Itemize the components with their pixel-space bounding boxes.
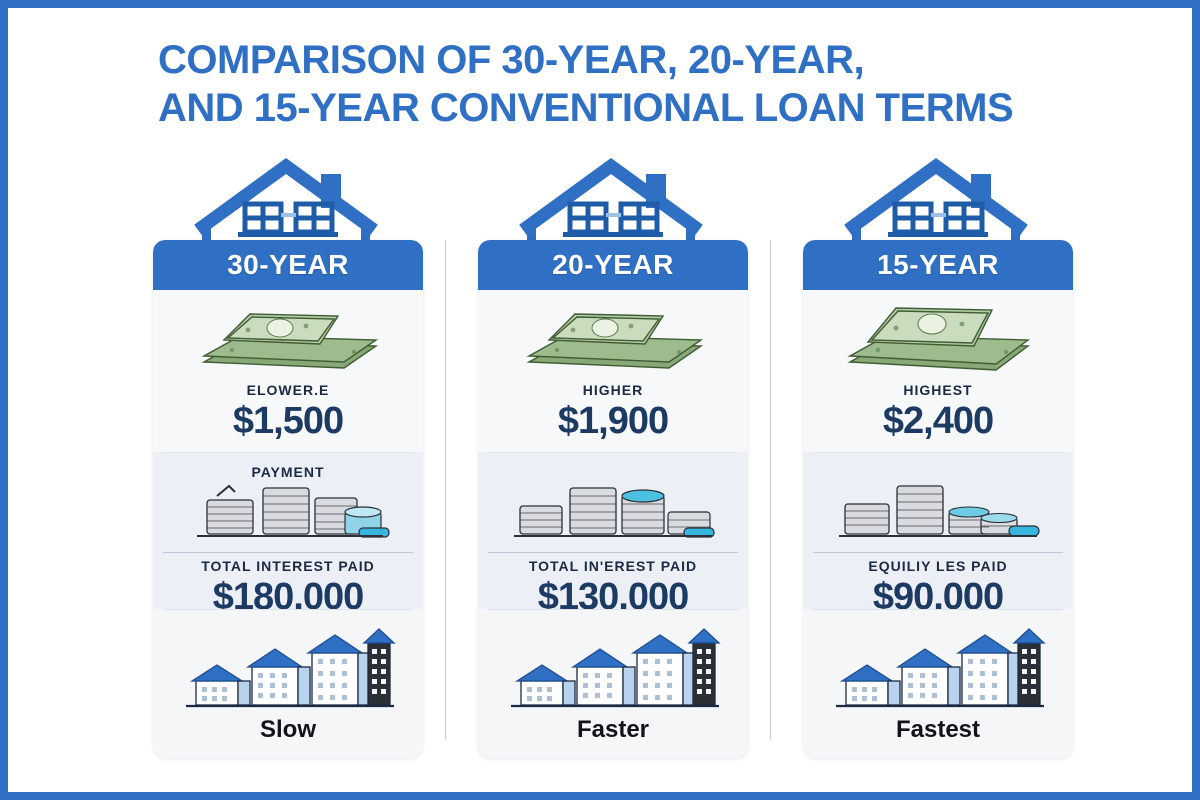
cash-stack-illustration — [188, 300, 388, 378]
cash-stack-illustration — [513, 300, 713, 378]
equity-growth-section: Faster — [478, 609, 748, 758]
section-divider — [163, 609, 413, 610]
card-header-label: 20-YEAR — [552, 249, 674, 281]
equity-speed-label: Slow — [153, 716, 423, 744]
growing-buildings-illustration — [178, 627, 398, 711]
growing-buildings-illustration — [503, 627, 723, 711]
equity-growth-section: Fastest — [803, 609, 1073, 758]
equity-speed-label: Faster — [478, 716, 748, 744]
total-interest-label: TOTAL IN'EREST PAID — [478, 558, 748, 574]
monthly-payment-amount: $1,500 — [153, 400, 423, 443]
total-interest-label: EQUILIY LES PAID — [803, 558, 1073, 574]
total-interest-section: EQUILIY LES PAID $90,000 — [803, 452, 1073, 609]
payment-qualifier-label: HIGHEST — [803, 382, 1073, 398]
column-divider-2 — [770, 240, 771, 740]
house-roof-icon — [513, 158, 713, 246]
payment-qualifier-label: eLoweR.e — [153, 382, 423, 398]
coin-stacks-illustration — [833, 474, 1043, 546]
column-divider-1 — [445, 240, 446, 740]
loan-card: 30-YEAR — [153, 240, 423, 758]
loan-term-column-20-year: 20-YEAR — [478, 158, 748, 778]
payment-qualifier-label: HIGHER — [478, 382, 748, 398]
comparison-columns: 30-YEAR — [153, 158, 1063, 778]
coin-stacks-illustration — [183, 474, 393, 546]
monthly-payment-amount: $1,900 — [478, 400, 748, 443]
growing-buildings-illustration — [828, 627, 1048, 711]
card-header-30-year: 30-YEAR — [153, 240, 423, 290]
total-interest-label: TOTAL INTEREST PAID — [153, 558, 423, 574]
section-divider — [488, 609, 738, 610]
loan-card: 15-YEAR — [803, 240, 1073, 758]
title-line-2: AND 15-YEAR CONVENTIONAL LOAN TERMS — [158, 84, 1078, 132]
monthly-payment-section: HIGHEST $2,400 — [803, 290, 1073, 452]
total-interest-section: TOTAL IN'EREST PAID $130,000 — [478, 452, 748, 609]
section-divider — [163, 452, 413, 453]
page-title: COMPARISON OF 30-YEAR, 20-YEAR, AND 15-Y… — [158, 36, 1078, 132]
monthly-payment-section: eLoweR.e $1,500 — [153, 290, 423, 452]
equity-speed-label: Fastest — [803, 716, 1073, 744]
house-roof-icon — [188, 158, 388, 246]
card-header-label: 15-YEAR — [877, 249, 999, 281]
infographic-frame: COMPARISON OF 30-YEAR, 20-YEAR, AND 15-Y… — [8, 8, 1192, 792]
total-interest-section: PAYMENT — [153, 452, 423, 609]
section-divider — [813, 452, 1063, 453]
card-header-20-year: 20-YEAR — [478, 240, 748, 290]
loan-term-column-30-year: 30-YEAR — [153, 158, 423, 778]
section-divider — [488, 452, 738, 453]
card-header-label: 30-YEAR — [227, 249, 349, 281]
interest-rule — [813, 552, 1063, 553]
equity-growth-section: Slow — [153, 609, 423, 758]
coin-stacks-illustration — [508, 474, 718, 546]
house-roof-icon — [838, 158, 1038, 246]
section-divider — [813, 609, 1063, 610]
monthly-payment-section: HIGHER $1,900 — [478, 290, 748, 452]
monthly-payment-amount: $2,400 — [803, 400, 1073, 443]
interest-rule — [488, 552, 738, 553]
cash-stack-illustration — [838, 298, 1038, 380]
title-line-1: COMPARISON OF 30-YEAR, 20-YEAR, — [158, 38, 864, 82]
interest-rule — [163, 552, 413, 553]
loan-card: 20-YEAR — [478, 240, 748, 758]
card-header-15-year: 15-YEAR — [803, 240, 1073, 290]
loan-term-column-15-year: 15-YEAR — [803, 158, 1073, 778]
